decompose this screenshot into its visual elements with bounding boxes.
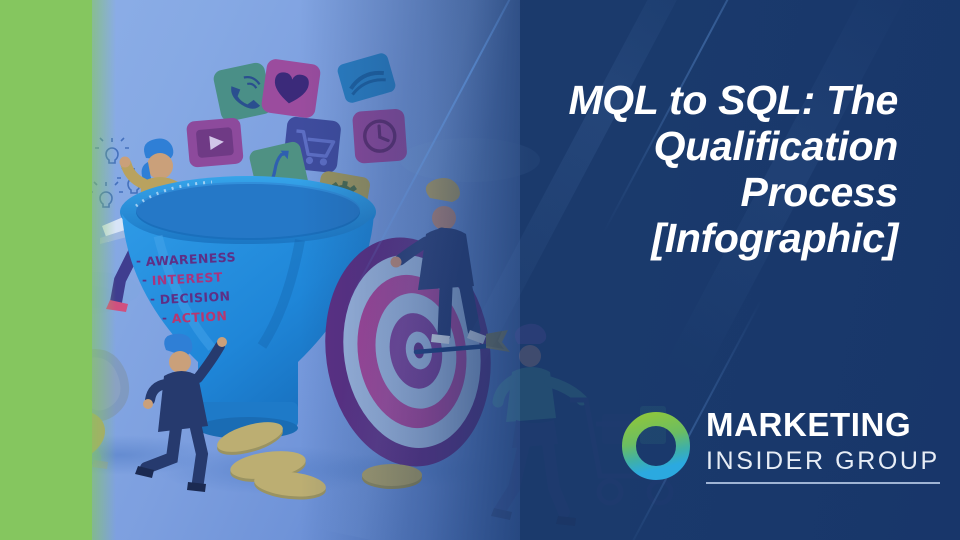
logo-wordmark: MARKETING INSIDER GROUP bbox=[706, 408, 940, 484]
logo-underline-rule bbox=[706, 482, 940, 484]
title-line-4: [Infographic] bbox=[478, 216, 898, 262]
stage-bullet: - bbox=[142, 273, 147, 287]
logo-line-insider-group: INSIDER GROUP bbox=[706, 449, 940, 474]
marketing-insider-group-logo[interactable]: MARKETING INSIDER GROUP bbox=[622, 408, 940, 484]
left-green-panel-fade bbox=[78, 0, 116, 540]
funnel-stage-action: ACTION bbox=[171, 308, 227, 326]
stage-bullet: - bbox=[162, 311, 167, 325]
stage-bullet: - bbox=[150, 292, 155, 306]
page-title: MQL to SQL: The Qualification Process [I… bbox=[478, 78, 898, 262]
title-line-3: Process bbox=[478, 170, 898, 216]
play-video-icon bbox=[186, 117, 244, 168]
stage-bullet: - bbox=[136, 254, 141, 268]
gradient-ring-icon bbox=[622, 412, 690, 480]
featured-image-canvas: AWARENESS INTEREST DECISION ACTION - - -… bbox=[0, 0, 960, 540]
title-line-2: Qualification bbox=[478, 124, 898, 170]
title-line-1: MQL to SQL: The bbox=[478, 78, 898, 124]
logo-line-marketing: MARKETING bbox=[706, 408, 940, 441]
